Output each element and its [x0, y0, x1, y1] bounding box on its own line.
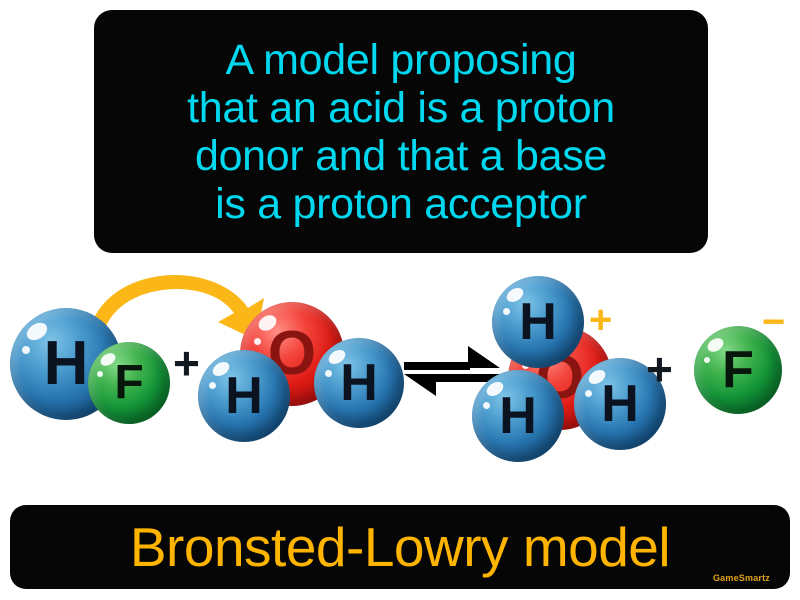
definition-line-1: A model proposing	[225, 36, 576, 84]
definition-panel: A model proposing that an acid is a prot…	[94, 10, 708, 253]
atom-hydrogen: H	[198, 350, 290, 442]
reaction-diagram: H F + O H H	[0, 258, 800, 503]
atom-label-H: H	[314, 338, 404, 428]
page-title: Bronsted-Lowry model	[10, 505, 790, 589]
watermark-label: GameSmartz	[713, 573, 770, 583]
definition-line-4: is a proton acceptor	[215, 180, 587, 228]
operator-plus-products: +	[646, 346, 673, 392]
atom-hydrogen: H	[314, 338, 404, 428]
charge-positive: +	[589, 300, 612, 340]
operator-plus-reactants: +	[173, 340, 200, 386]
definition-line-2: that an acid is a proton	[187, 84, 615, 132]
atom-hydrogen: H	[472, 370, 564, 462]
charge-negative: −	[762, 302, 785, 342]
atom-label-H: H	[492, 276, 584, 368]
atom-hydrogen: H	[492, 276, 584, 368]
term-bar: Bronsted-Lowry model GameSmartz	[10, 505, 790, 589]
atom-label-H: H	[472, 370, 564, 462]
atom-label-H: H	[198, 350, 290, 442]
atom-fluorine: F	[88, 342, 170, 424]
definition-line-3: donor and that a base	[195, 132, 607, 180]
atom-label-F: F	[88, 342, 170, 424]
